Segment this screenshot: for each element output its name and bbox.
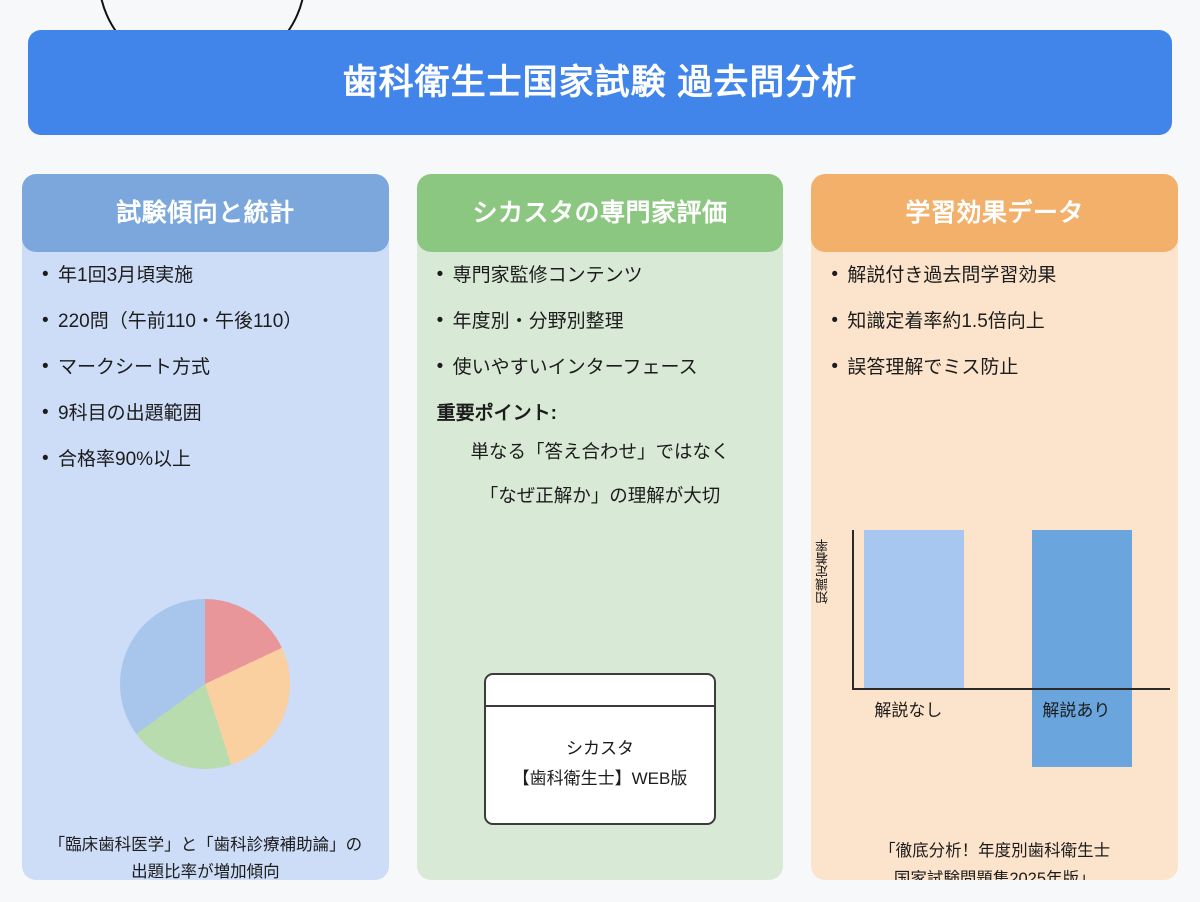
list-item: 専門家監修コンテンツ	[437, 266, 764, 285]
bar-without-explanation	[864, 530, 964, 688]
list-item: 知識定着率約1.5倍向上	[831, 312, 1158, 331]
bullet-list-learning-effect: 解説付き過去問学習効果 知識定着率約1.5倍向上 誤答理解でミス防止	[831, 266, 1158, 377]
key-point-title: 重要ポイント:	[437, 404, 764, 423]
key-point-line: 「なぜ正解か」の理解が大切	[437, 487, 764, 506]
card-body-expert-review: 専門家監修コンテンツ 年度別・分野別整理 使いやすいインターフェース 重要ポイン…	[417, 252, 784, 880]
list-item: 合格率90%以上	[42, 450, 369, 469]
list-item: 解説付き過去問学習効果	[831, 266, 1158, 285]
card-body-learning-effect: 解説付き過去問学習効果 知識定着率約1.5倍向上 誤答理解でミス防止 知識定着率…	[811, 252, 1178, 880]
card-exam-trends: 試験傾向と統計 年1回3月頃実施 220問（午前110・午後110） マークシー…	[22, 174, 389, 880]
card-header-exam-trends: 試験傾向と統計	[22, 174, 389, 252]
columns-container: 試験傾向と統計 年1回3月頃実施 220問（午前110・午後110） マークシー…	[22, 174, 1178, 880]
list-item: 220問（午前110・午後110）	[42, 312, 369, 331]
card-expert-review: シカスタの専門家評価 専門家監修コンテンツ 年度別・分野別整理 使いやすいインタ…	[417, 174, 784, 880]
title-banner: 歯科衛生士国家試験 過去問分析	[28, 30, 1172, 135]
pie-chart-subject-ratio	[120, 599, 290, 769]
pie-chart-wrapper	[22, 599, 389, 769]
list-item: 誤答理解でミス防止	[831, 358, 1158, 377]
product-card[interactable]: シカスタ 【歯科衛生士】WEB版	[484, 673, 716, 825]
key-point-line: 単なる「答え合わせ」ではなく	[437, 443, 764, 462]
bar-label-without-explanation: 解説なし	[874, 702, 942, 719]
card-header-label: 学習効果データ	[905, 201, 1084, 226]
card-learning-effect: 学習効果データ 解説付き過去問学習効果 知識定着率約1.5倍向上 誤答理解でミス…	[811, 174, 1178, 880]
product-card-header-strip	[486, 675, 714, 707]
product-card-body: シカスタ 【歯科衛生士】WEB版	[486, 707, 714, 823]
card-header-label: 試験傾向と統計	[116, 201, 295, 226]
card-header-expert-review: シカスタの専門家評価	[417, 174, 784, 252]
card-body-exam-trends: 年1回3月頃実施 220問（午前110・午後110） マークシート方式 9科目の…	[22, 252, 389, 880]
learning-effect-caption: 「徹底分析！年度別歯科衛生士 国家試験問題集2025年版」 第29回〜第33回過…	[821, 837, 1168, 880]
product-name: シカスタ	[566, 740, 634, 757]
product-edition: 【歯科衛生士】WEB版	[513, 770, 688, 787]
list-item: 9科目の出題範囲	[42, 404, 369, 423]
bullet-list-exam-trends: 年1回3月頃実施 220問（午前110・午後110） マークシート方式 9科目の…	[42, 266, 369, 469]
caption-line: 「徹底分析！年度別歯科衛生士	[821, 837, 1168, 865]
bar-chart-x-axis	[852, 688, 1170, 690]
caption-line: 「臨床歯科医学」と「歯科診療補助論」の	[32, 832, 379, 859]
caption-line: 出題比率が増加傾向	[32, 859, 379, 880]
bar-chart-y-axis-label: 知識定着率	[813, 492, 831, 604]
bar-label-with-explanation: 解説あり	[1042, 702, 1110, 719]
caption-line: 国家試験問題集2025年版」	[821, 865, 1168, 880]
page-title: 歯科衛生士国家試験 過去問分析	[343, 65, 858, 100]
pie-chart-caption: 「臨床歯科医学」と「歯科診療補助論」の 出題比率が増加傾向	[32, 832, 379, 880]
list-item: 年度別・分野別整理	[437, 312, 764, 331]
bar-with-explanation	[1032, 530, 1132, 767]
bar-chart-retention: 知識定着率 解説なし 解説あり	[819, 490, 1171, 700]
list-item: 使いやすいインターフェース	[437, 358, 764, 377]
card-header-label: シカスタの専門家評価	[473, 201, 728, 226]
card-header-learning-effect: 学習効果データ	[811, 174, 1178, 252]
list-item: マークシート方式	[42, 358, 369, 377]
list-item: 年1回3月頃実施	[42, 266, 369, 285]
bullet-list-expert-review: 専門家監修コンテンツ 年度別・分野別整理 使いやすいインターフェース	[437, 266, 764, 377]
bar-chart-y-axis	[852, 530, 854, 689]
